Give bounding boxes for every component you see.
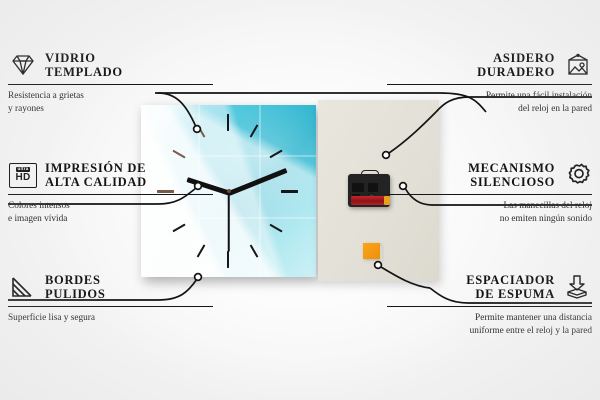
feature-title: BORDESPULIDOS <box>45 273 105 301</box>
infographic-canvas: VIDRIOTEMPLADO Resistencia a grietasy ra… <box>0 0 600 400</box>
clock-tick-6 <box>227 251 229 268</box>
feature-title: MECANISMOSILENCIOSO <box>468 161 555 189</box>
battery <box>351 196 385 205</box>
feature-divider <box>8 306 213 307</box>
feature-title: VIDRIOTEMPLADO <box>45 51 123 79</box>
feature-title: ASIDERODURADERO <box>477 51 555 79</box>
feature-body: Superficie lisa y segura <box>8 312 213 324</box>
ultra-hd-badge-large: HD <box>15 173 30 183</box>
clock-mechanism <box>348 170 390 207</box>
feature-body: Las manecillas del relojno emiten ningún… <box>387 200 592 225</box>
feature-title: ESPACIADORDE ESPUMA <box>466 273 555 301</box>
gear-icon <box>562 160 592 190</box>
feature-mecanismo-silencioso: MECANISMOSILENCIOSO Las manecillas del r… <box>387 160 592 225</box>
glass-pane-line-v2 <box>259 105 261 277</box>
foam-spacer-icon <box>562 272 592 302</box>
feature-bordes-pulidos: BORDESPULIDOS Superficie lisa y segura <box>8 272 213 325</box>
glass-pane-line-h1 <box>141 155 316 157</box>
feature-divider <box>8 194 213 195</box>
feature-divider <box>387 306 592 307</box>
feature-divider <box>387 84 592 85</box>
wall-hanger-icon <box>562 50 592 80</box>
feature-body: Permite una fácil instalacióndel reloj e… <box>387 90 592 115</box>
feature-title: IMPRESIÓN DEALTA CALIDAD <box>45 161 147 189</box>
clock-tick-3 <box>281 190 298 193</box>
feature-body: Resistencia a grietasy rayones <box>8 90 213 115</box>
feature-divider <box>387 194 592 195</box>
clock-center-cap <box>227 189 231 193</box>
feature-espaciador-espuma: ESPACIADORDE ESPUMA Permite mantener una… <box>387 272 592 337</box>
feature-divider <box>8 84 213 85</box>
feature-body: Colores intensose imagen vívida <box>8 200 213 225</box>
mechanism-detail-1 <box>352 183 364 192</box>
ultra-hd-icon: ultra HD <box>8 160 38 190</box>
polished-edges-icon <box>8 272 38 302</box>
feature-asidero-duradero: ASIDERODURADERO Permite una fácil instal… <box>387 50 592 115</box>
feature-vidrio-templado: VIDRIOTEMPLADO Resistencia a grietasy ra… <box>8 50 213 115</box>
mechanism-detail-2 <box>368 183 378 192</box>
feature-impresion-alta-calidad: ultra HD IMPRESIÓN DEALTA CALIDAD Colore… <box>8 160 213 225</box>
feature-body: Permite mantener una distanciauniforme e… <box>387 312 592 337</box>
clock-second-hand <box>228 192 230 252</box>
foam-spacer <box>363 243 380 259</box>
clock-tick-12 <box>227 114 229 131</box>
mechanism-body <box>348 174 390 207</box>
diamond-icon <box>8 50 38 80</box>
